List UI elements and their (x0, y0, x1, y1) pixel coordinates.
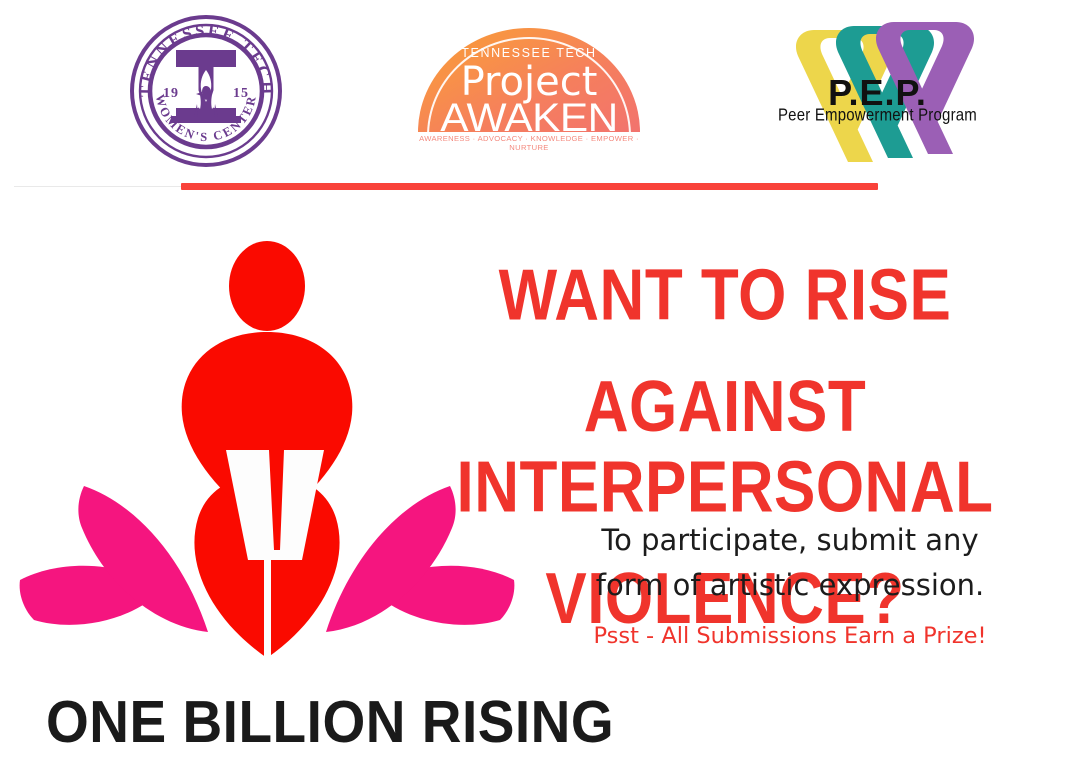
svg-text:19: 19 (163, 86, 179, 101)
divider-red-rule (181, 183, 878, 190)
headline-line-1: WANT TO RISE AGAINST (392, 241, 1058, 464)
womens-center-seal-icon: TENNESSEE TECH WOMEN'S CENTER (127, 12, 285, 170)
logo-row: TENNESSEE TECH WOMEN'S CENTER (0, 0, 1080, 175)
pep-logo: P.E.P. Peer Empowerment Program (770, 2, 985, 172)
prize-note: Psst - All Submissions Earn a Prize! (568, 622, 1012, 650)
awaken-tagline: AWARENESS · ADVOCACY · KNOWLEDGE · EMPOW… (418, 134, 640, 152)
pep-ribbons-icon (770, 2, 985, 172)
svg-text:15: 15 (233, 86, 249, 101)
awaken-eyebrow: TENNESSEE TECH (418, 46, 640, 60)
project-awaken-logo: TENNESSEE TECH Project AWAKEN AWARENESS … (418, 28, 640, 146)
poster-canvas: TENNESSEE TECH WOMEN'S CENTER (0, 0, 1080, 780)
divider-hairline (14, 186, 181, 187)
one-billion-rising-wordmark: ONE BILLION RISING (46, 690, 614, 753)
body-copy-block: To participate, submit any form of artis… (568, 518, 1012, 650)
body-line-1: To participate, submit any (568, 518, 1012, 563)
body-line-2: form of artistic expression. (568, 563, 1012, 608)
awaken-word-awaken: AWAKEN (411, 98, 646, 138)
tennessee-tech-womens-center-logo: TENNESSEE TECH WOMEN'S CENTER (127, 12, 285, 170)
